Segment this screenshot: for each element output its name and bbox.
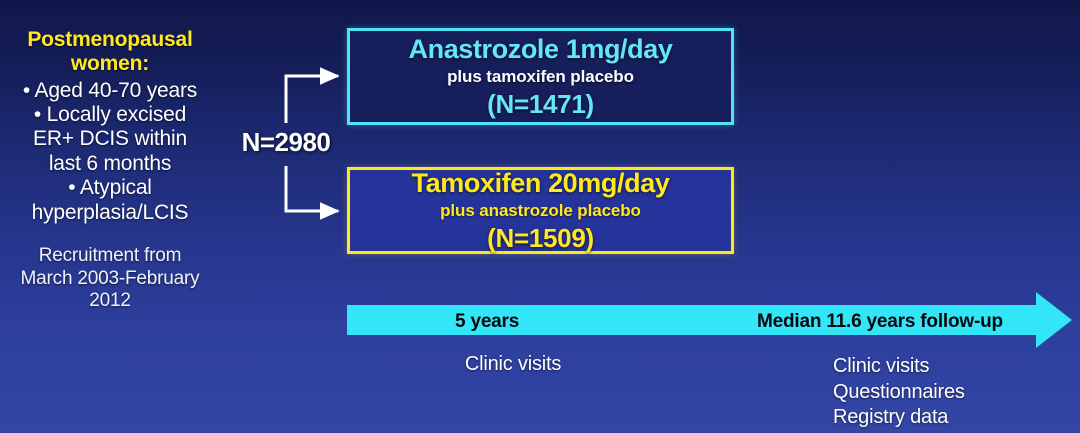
arm-sample-size: (N=1509) <box>350 223 731 254</box>
arm-title: Tamoxifen 20mg/day <box>350 168 731 199</box>
treatment-arm-anastrozole: Anastrozole 1mg/day plus tamoxifen place… <box>347 28 734 125</box>
connector-to-anastrozole-arm <box>286 76 338 123</box>
assessment-item: Clinic visits <box>455 352 571 378</box>
treatment-phase-assessments: Clinic visits <box>455 352 571 378</box>
connector-to-tamoxifen-arm <box>286 166 338 211</box>
assessment-item: Clinic visits <box>833 354 965 380</box>
total-enrolment-label: N=2980 <box>228 127 344 158</box>
arm-sample-size: (N=1471) <box>350 89 731 120</box>
arm-subtitle: plus anastrozole placebo <box>350 201 731 221</box>
followup-phase-assessments: Clinic visits Questionnaires Registry da… <box>833 354 965 431</box>
criteria-title-line-2: women: <box>0 52 220 76</box>
recruitment-line-1: Recruitment from <box>0 245 220 268</box>
eligibility-criteria-panel: Postmenopausal women: • Aged 40-70 years… <box>0 28 220 313</box>
criteria-bullet-list: • Aged 40-70 years • Locally excised ER+… <box>0 79 220 225</box>
arm-subtitle: plus tamoxifen placebo <box>350 67 731 87</box>
recruitment-line-3: 2012 <box>0 290 220 313</box>
criteria-bullet: last 6 months <box>0 152 220 176</box>
assessment-item: Registry data <box>833 405 965 431</box>
treatment-arm-tamoxifen: Tamoxifen 20mg/day plus anastrozole plac… <box>347 167 734 254</box>
criteria-bullet: • Locally excised <box>0 103 220 127</box>
criteria-bullet: hyperplasia/LCIS <box>0 201 220 225</box>
criteria-title-line-1: Postmenopausal <box>0 28 220 52</box>
arm-title: Anastrozole 1mg/day <box>350 34 731 65</box>
recruitment-period: Recruitment from March 2003-February 201… <box>0 245 220 313</box>
recruitment-line-2: March 2003-February <box>0 268 220 291</box>
criteria-bullet: • Atypical <box>0 176 220 200</box>
criteria-title: Postmenopausal women: <box>0 28 220 77</box>
timeline-treatment-duration-label: 5 years <box>455 311 519 333</box>
timeline-followup-label: Median 11.6 years follow-up <box>757 311 1003 333</box>
criteria-bullet: • Aged 40-70 years <box>0 79 220 103</box>
assessment-item: Questionnaires <box>833 380 965 406</box>
criteria-bullet: ER+ DCIS within <box>0 127 220 151</box>
